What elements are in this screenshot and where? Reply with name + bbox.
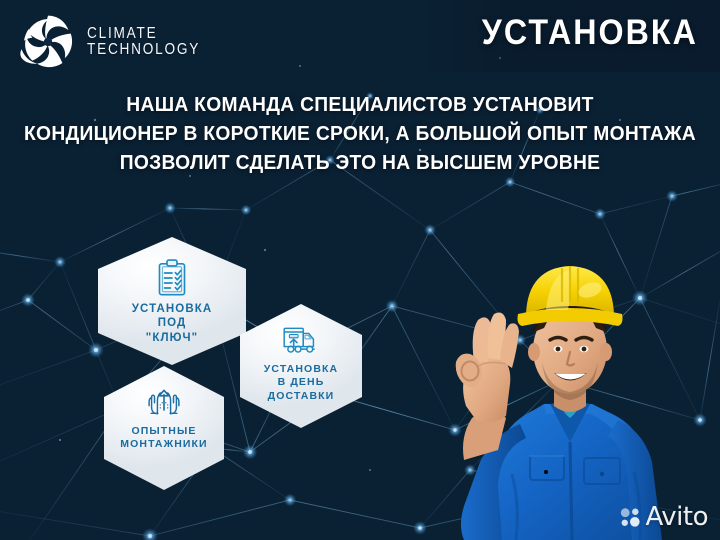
worker-photo (394, 210, 720, 540)
brand-name-line1: CLIMATE (87, 25, 157, 42)
page-title: УСТАНОВКА (482, 13, 698, 53)
feature-label: УСТАНОВКА В ДЕНЬ ДОСТАВКИ (264, 363, 338, 403)
delivery-truck-icon (282, 321, 320, 359)
headline-line-3: ПОЗВОЛИТ СДЕЛАТЬ ЭТО НА ВЫСШЕМ УРОВНЕ (22, 148, 699, 177)
poster-canvas: CLIMATE TECHNOLOGY УСТАНОВКА НАША КОМАНД… (0, 0, 720, 540)
headline-line-1: НАША КОМАНДА СПЕЦИАЛИСТОВ УСТАНОВИТ (22, 90, 699, 119)
feature-label: ОПЫТНЫЕ МОНТАЖНИКИ (120, 425, 207, 451)
header: CLIMATE TECHNOLOGY УСТАНОВКА (0, 0, 720, 88)
brand-logo[interactable]: CLIMATE TECHNOLOGY (18, 12, 216, 72)
fan-spiral-logo-icon (18, 12, 78, 72)
feature-label: УСТАНОВКА ПОД "КЛЮЧ" (132, 302, 213, 345)
hands-care-arrow-icon (145, 383, 183, 421)
headline: НАША КОМАНДА СПЕЦИАЛИСТОВ УСТАНОВИТ КОНД… (0, 90, 720, 177)
avito-wordmark: Avito (646, 502, 708, 532)
clipboard-checklist-icon (152, 258, 192, 298)
brand-name: CLIMATE TECHNOLOGY (87, 26, 200, 58)
brand-name-line2: TECHNOLOGY (87, 42, 200, 58)
avito-dots-icon (619, 506, 642, 529)
avito-watermark: Avito (619, 502, 708, 532)
headline-line-2: КОНДИЦИОНЕР В КОРОТКИЕ СРОКИ, А БОЛЬШОЙ … (22, 119, 699, 148)
